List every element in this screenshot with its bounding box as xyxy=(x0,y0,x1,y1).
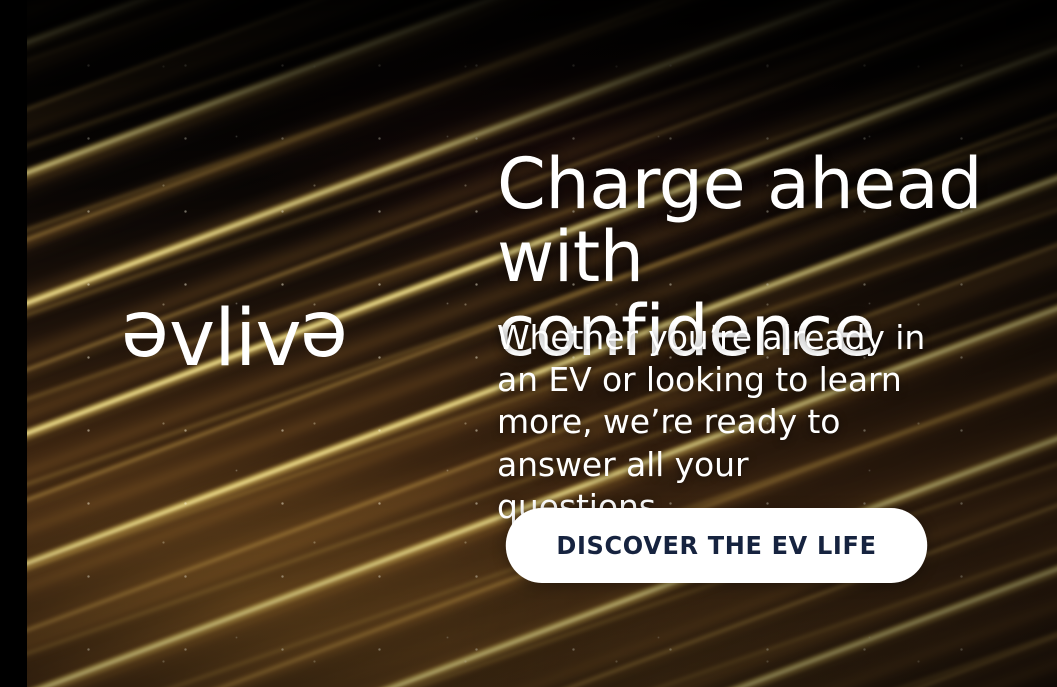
hero-description: Whether you’re already in an EV or looki… xyxy=(497,317,927,528)
evlive-logo: evlive xyxy=(122,300,348,378)
logo-letter-e-last: e xyxy=(301,300,348,378)
discover-the-ev-life-button[interactable]: DISCOVER THE EV LIFE xyxy=(506,508,927,583)
left-black-bar xyxy=(0,0,27,687)
logo-letters-vliv: vliv xyxy=(169,294,301,384)
hero-banner: evlive Charge ahead with confidence Whet… xyxy=(0,0,1057,687)
hero-content: evlive Charge ahead with confidence Whet… xyxy=(0,0,1057,687)
logo-letter-e-first: e xyxy=(122,300,169,378)
